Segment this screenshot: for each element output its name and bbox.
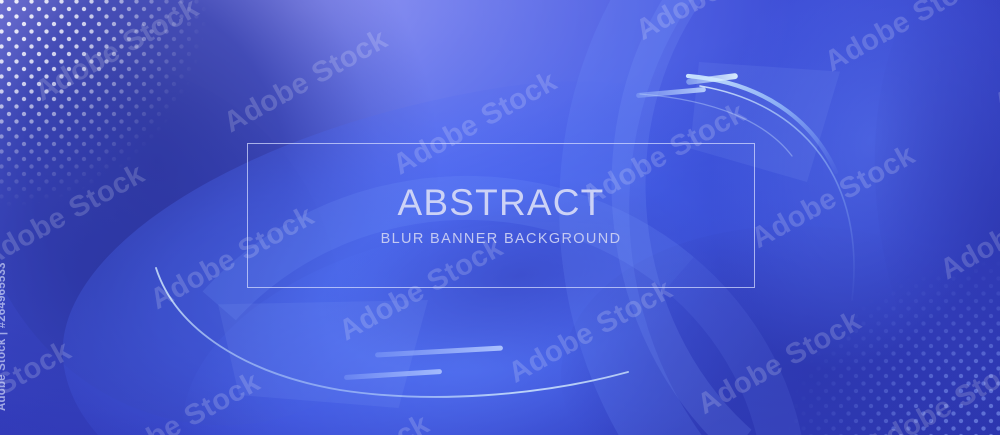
banner-subtitle: BLUR BANNER BACKGROUND xyxy=(381,232,622,247)
page-title: ABSTRACT xyxy=(398,184,605,221)
abstract-banner-canvas: Adobe StockAdobe StockAdobe StockAdobe S… xyxy=(0,0,1000,435)
stock-credit-label: Adobe Stock | #264965533 xyxy=(0,262,8,411)
banner-frame: ABSTRACT BLUR BANNER BACKGROUND xyxy=(247,143,755,288)
